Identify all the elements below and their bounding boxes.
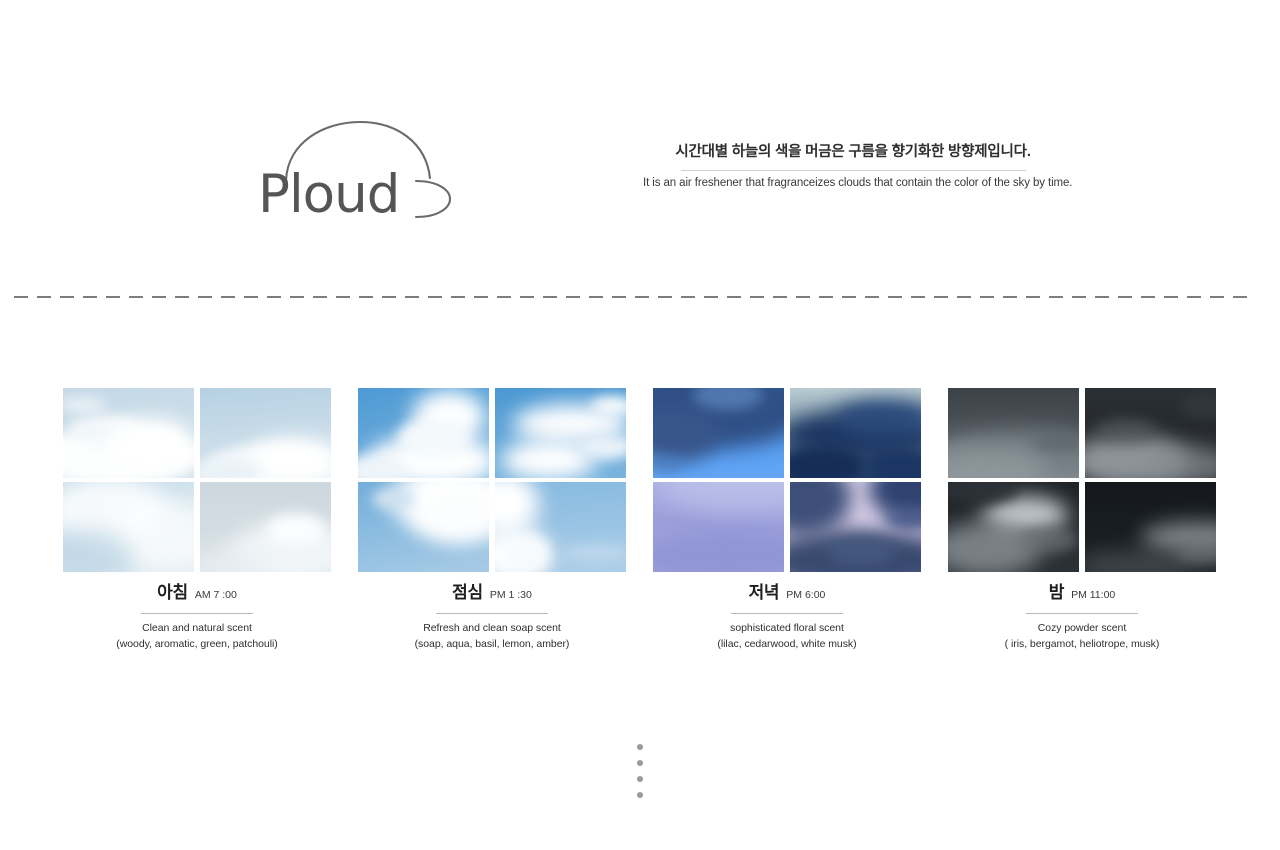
cloud-image[interactable] xyxy=(358,482,489,572)
product-time: PM 11:00 xyxy=(1071,590,1115,601)
cloud-image[interactable] xyxy=(790,388,921,478)
cloud-image[interactable] xyxy=(653,482,784,572)
cloud-image[interactable] xyxy=(948,482,1079,572)
product-notes: (woody, aromatic, green, patchouli) xyxy=(63,637,331,653)
product-caption: 밤 PM 11:00 Cozy powder scent ( iris, ber… xyxy=(948,584,1216,653)
product-caption: 점심 PM 1 :30 Refresh and clean soap scent… xyxy=(358,584,626,653)
scroll-dot xyxy=(637,744,643,750)
cloud-image[interactable] xyxy=(495,482,626,572)
tagline-korean: 시간대별 하늘의 색을 머금은 구름을 향기화한 방향제입니다. xyxy=(643,143,1063,163)
tagline-block: 시간대별 하늘의 색을 머금은 구름을 향기화한 방향제입니다. It is a… xyxy=(643,143,1063,189)
cloud-image[interactable] xyxy=(495,388,626,478)
logo-circle-icon xyxy=(410,177,454,221)
product-card-evening[interactable]: 저녁 PM 6:00 sophisticated floral scent (l… xyxy=(653,388,921,572)
product-card-night[interactable]: 밤 PM 11:00 Cozy powder scent ( iris, ber… xyxy=(948,388,1216,572)
product-time: AM 7 :00 xyxy=(195,590,237,601)
tagline-underline xyxy=(681,170,1026,171)
product-description: Cozy powder scent xyxy=(948,621,1216,637)
product-title: 점심 xyxy=(452,584,483,601)
cloud-image[interactable] xyxy=(63,388,194,478)
scroll-dots-icon[interactable] xyxy=(637,744,643,798)
caption-divider xyxy=(141,613,253,614)
product-title: 저녁 xyxy=(749,584,780,601)
product-title: 밤 xyxy=(1049,584,1064,601)
cloud-image[interactable] xyxy=(200,388,331,478)
product-description: sophisticated floral scent xyxy=(653,621,921,637)
cloud-image[interactable] xyxy=(790,482,921,572)
brand-logo[interactable]: Ploud xyxy=(258,120,458,220)
product-caption: 아침 AM 7 :00 Clean and natural scent (woo… xyxy=(63,584,331,653)
scroll-dot xyxy=(637,792,643,798)
cloud-image[interactable] xyxy=(358,388,489,478)
image-grid xyxy=(358,388,626,572)
caption-divider xyxy=(436,613,548,614)
cloud-image[interactable] xyxy=(1085,482,1216,572)
section-divider xyxy=(14,296,1248,298)
product-description: Refresh and clean soap scent xyxy=(358,621,626,637)
product-notes: (lilac, cedarwood, white musk) xyxy=(653,637,921,653)
cloud-image[interactable] xyxy=(63,482,194,572)
product-card-morning[interactable]: 아침 AM 7 :00 Clean and natural scent (woo… xyxy=(63,388,331,572)
cloud-image[interactable] xyxy=(653,388,784,478)
product-description: Clean and natural scent xyxy=(63,621,331,637)
caption-divider xyxy=(731,613,843,614)
image-grid xyxy=(653,388,921,572)
logo-wordmark: Ploud xyxy=(258,168,399,221)
cloud-image[interactable] xyxy=(200,482,331,572)
cloud-image[interactable] xyxy=(1085,388,1216,478)
caption-divider xyxy=(1026,613,1138,614)
image-grid xyxy=(63,388,331,572)
product-notes: ( iris, bergamot, heliotrope, musk) xyxy=(948,637,1216,653)
cloud-image[interactable] xyxy=(948,388,1079,478)
product-title: 아침 xyxy=(157,584,188,601)
scroll-dot xyxy=(637,776,643,782)
tagline-english: It is an air freshener that fragranceize… xyxy=(643,177,1063,189)
product-time: PM 6:00 xyxy=(786,590,825,601)
image-grid xyxy=(948,388,1216,572)
product-caption: 저녁 PM 6:00 sophisticated floral scent (l… xyxy=(653,584,921,653)
product-card-lunch[interactable]: 점심 PM 1 :30 Refresh and clean soap scent… xyxy=(358,388,626,572)
product-time: PM 1 :30 xyxy=(490,590,532,601)
product-notes: (soap, aqua, basil, lemon, amber) xyxy=(358,637,626,653)
scroll-dot xyxy=(637,760,643,766)
page-header: Ploud 시간대별 하늘의 색을 머금은 구름을 향기화한 방향제입니다. I… xyxy=(0,0,1280,280)
